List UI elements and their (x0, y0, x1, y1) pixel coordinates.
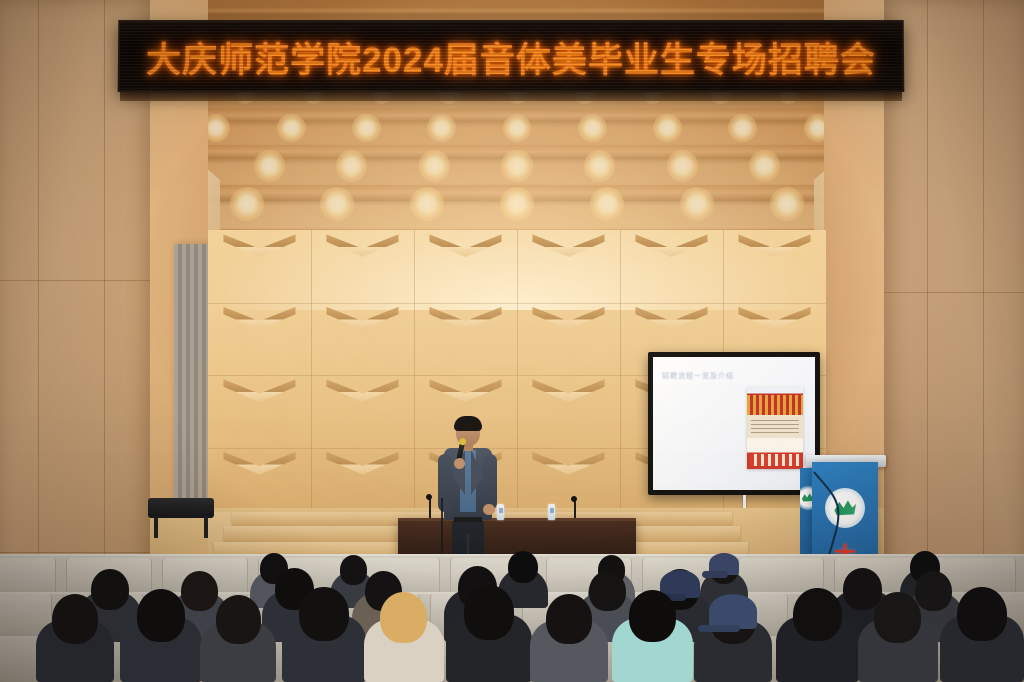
audience-area (0, 540, 1024, 682)
presenter-belt (454, 517, 482, 522)
desk-microphone-2 (574, 500, 576, 518)
projection-screen-surface: 招聘流程一览及介绍 (653, 357, 815, 490)
wall-chevron-motif (223, 452, 295, 477)
wall-chevron-motif (326, 452, 398, 477)
desk-microphone-2-head (571, 496, 577, 502)
audience-member-head (793, 588, 842, 641)
led-banner-text: 大庆师范学院2024届音体美毕业生专场招聘会 (146, 32, 876, 83)
desk-microphone-1 (429, 498, 431, 518)
audience-member (530, 587, 608, 682)
university-emblem-icon (825, 488, 865, 528)
audience-member (776, 582, 859, 682)
water-bottle-2 (548, 504, 555, 520)
wall-chevron-motif (532, 452, 604, 477)
audience-member (858, 585, 938, 682)
presenter-arm-right (483, 454, 497, 510)
grand-piano (148, 492, 220, 538)
audience-member (364, 585, 444, 682)
wall-chevron-motif (532, 379, 604, 404)
audience-member-cap (709, 553, 739, 575)
wall-chevron-motif (223, 307, 295, 332)
audience-member-head (957, 587, 1007, 641)
audience-member-head (216, 595, 261, 644)
projection-screen: 招聘流程一览及介绍 (648, 352, 820, 495)
banner-mount (120, 92, 902, 101)
presenter-hand-right (483, 504, 495, 515)
wall-chevron-motif (635, 307, 707, 332)
audience-member-cap (709, 594, 758, 629)
audience-member (940, 580, 1024, 682)
audience-member (282, 580, 366, 682)
wall-chevron-motif (429, 379, 501, 404)
audience-member-head (464, 585, 515, 640)
wall-chevron-motif (429, 307, 501, 332)
audience-member (446, 578, 532, 682)
slide-poster-image (747, 387, 803, 469)
wall-chevron-motif (326, 379, 398, 404)
auditorium-photo: 大庆师范学院2024届音体美毕业生专场招聘会 招聘流程一览及介绍 (0, 0, 1024, 682)
slide-heading-text: 招聘流程一览及介绍 (662, 371, 734, 381)
audience-member-head (52, 594, 98, 644)
wall-panel-seam (208, 303, 826, 304)
audience-member (200, 589, 276, 682)
wall-chevron-motif (738, 307, 810, 332)
presenter-hand-left (454, 458, 465, 469)
wall-right (884, 0, 1024, 610)
desk-microphone-1-head (426, 494, 432, 500)
audience-member-head (629, 590, 677, 642)
wall-chevron-motif (223, 379, 295, 404)
audience-member-head (137, 589, 185, 642)
audience-member-head (546, 594, 592, 644)
stage-curtain-left (174, 244, 212, 534)
audience-member-head (874, 592, 921, 643)
audience-member (36, 587, 114, 682)
audience-member-head (380, 592, 427, 643)
wall-chevron-motif (532, 307, 604, 332)
wall-chevron-motif (326, 307, 398, 332)
audience-member-head (299, 587, 349, 641)
audience-member (120, 583, 202, 682)
audience-member (612, 584, 693, 682)
led-banner: 大庆师范学院2024届音体美毕业生专场招聘会 (118, 20, 905, 92)
audience-member (694, 587, 772, 682)
presenter-hair (454, 416, 482, 431)
